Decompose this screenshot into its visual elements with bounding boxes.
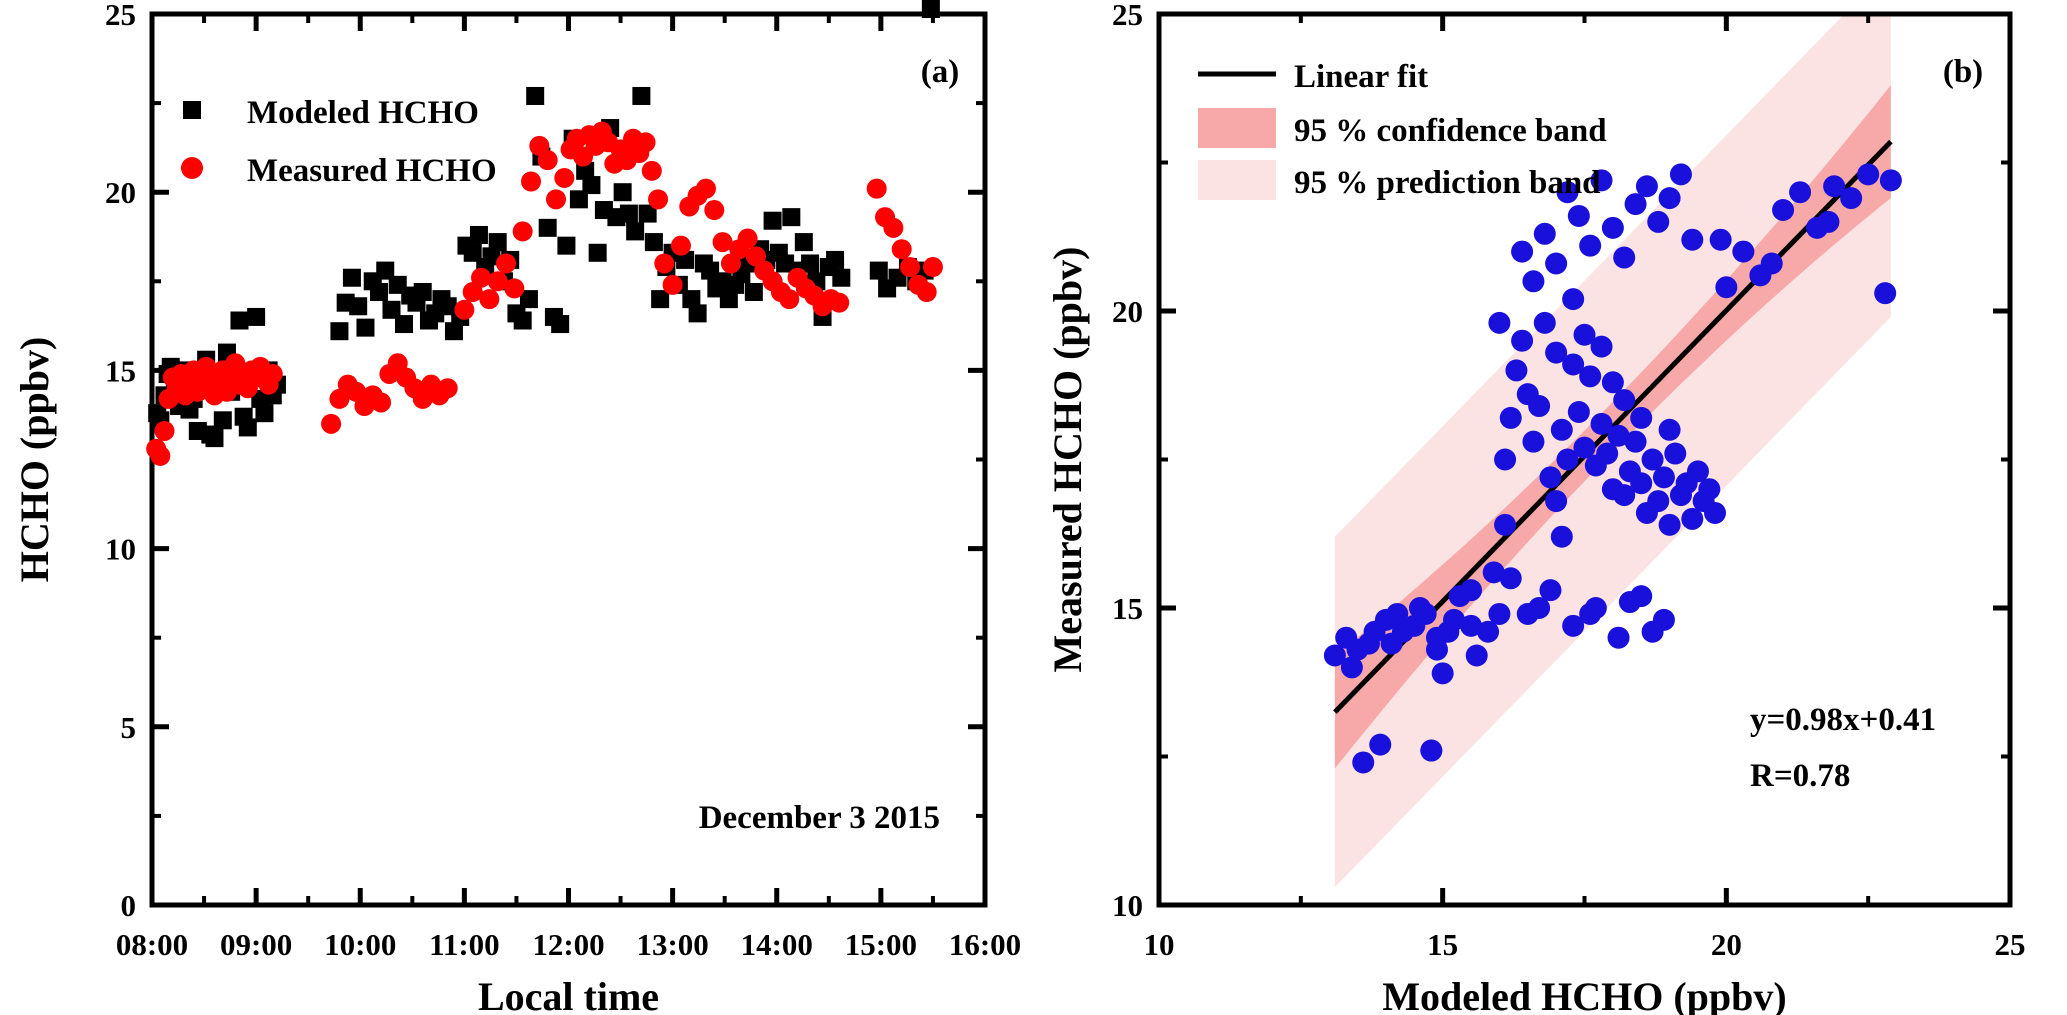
legend-label-measured: Measured HCHO bbox=[247, 153, 497, 189]
data-point-scatter bbox=[1602, 217, 1624, 239]
panel-b-legend: Linear fit95 % confidence band95 % predi… bbox=[1198, 59, 1607, 201]
panel-b-plot-area: 1015202510152025Modeled HCHO (ppbv)Measu… bbox=[1045, 0, 2026, 1015]
data-point-scatter bbox=[1880, 169, 1902, 191]
figure-container: 08:0009:0010:0011:0012:0013:0014:0015:00… bbox=[0, 0, 2067, 1015]
data-point-scatter bbox=[1613, 389, 1635, 411]
data-point-modeled bbox=[330, 322, 348, 340]
x-tick-label: 11:00 bbox=[429, 927, 500, 962]
data-point-scatter bbox=[1579, 365, 1601, 387]
data-point-scatter bbox=[1528, 395, 1550, 417]
data-point-scatter bbox=[1534, 312, 1556, 334]
data-point-scatter bbox=[1522, 431, 1544, 453]
data-point-measured bbox=[438, 378, 458, 398]
data-point-scatter bbox=[1562, 288, 1584, 310]
data-point-measured bbox=[883, 218, 903, 238]
data-point-modeled bbox=[255, 404, 273, 422]
legend-label-confidence-band: 95 % confidence band bbox=[1294, 113, 1607, 149]
data-point-scatter bbox=[1761, 252, 1783, 274]
data-point-scatter bbox=[1488, 312, 1510, 334]
data-point-modeled bbox=[539, 219, 557, 237]
data-point-modeled bbox=[795, 233, 813, 251]
data-point-modeled bbox=[632, 87, 650, 105]
data-point-modeled bbox=[582, 176, 600, 194]
x-axis-title: Local time bbox=[478, 974, 659, 1015]
data-point-scatter bbox=[1732, 241, 1754, 263]
x-tick-label: 09:00 bbox=[220, 927, 292, 962]
data-point-modeled bbox=[343, 269, 361, 287]
data-point-scatter bbox=[1415, 603, 1437, 625]
data-point-modeled bbox=[349, 297, 367, 315]
data-point-measured bbox=[738, 229, 758, 249]
x-tick-label: 14:00 bbox=[741, 927, 813, 962]
y-tick-label: 20 bbox=[105, 175, 136, 210]
data-point-measured bbox=[513, 221, 533, 241]
data-point-measured bbox=[538, 150, 558, 170]
data-point-scatter bbox=[1704, 502, 1726, 524]
data-point-modeled bbox=[870, 262, 888, 280]
data-point-scatter bbox=[1551, 526, 1573, 548]
data-point-scatter bbox=[1772, 199, 1794, 221]
data-point-modeled bbox=[470, 226, 488, 244]
legend-marker-circle-icon bbox=[181, 157, 203, 179]
data-point-scatter bbox=[1426, 639, 1448, 661]
data-point-measured bbox=[704, 200, 724, 220]
data-point-measured bbox=[371, 392, 391, 412]
data-point-modeled bbox=[801, 254, 819, 272]
data-point-modeled bbox=[230, 312, 248, 330]
data-point-scatter bbox=[1591, 336, 1613, 358]
data-point-scatter bbox=[1857, 163, 1879, 185]
data-point-measured bbox=[696, 179, 716, 199]
fit-equation-text: y=0.98x+0.41 bbox=[1750, 702, 1936, 738]
data-point-scatter bbox=[1500, 407, 1522, 429]
data-point-modeled bbox=[689, 304, 707, 322]
y-tick-label: 20 bbox=[1112, 294, 1143, 329]
legend-swatch-prediction-icon bbox=[1198, 160, 1276, 200]
x-tick-label: 08:00 bbox=[116, 927, 188, 962]
data-point-scatter bbox=[1534, 223, 1556, 245]
data-point-scatter bbox=[1715, 276, 1737, 298]
data-point-modeled bbox=[551, 315, 569, 333]
data-point-scatter bbox=[1659, 514, 1681, 536]
data-point-measured bbox=[892, 239, 912, 259]
x-tick-label: 20 bbox=[1711, 927, 1742, 962]
data-point-scatter bbox=[1670, 163, 1692, 185]
data-point-measured bbox=[654, 253, 674, 273]
y-tick-label: 5 bbox=[121, 710, 137, 745]
panel-a-annotation: December 3 2015 bbox=[699, 800, 940, 836]
data-point-scatter bbox=[1817, 211, 1839, 233]
y-tick-label: 25 bbox=[1112, 0, 1143, 32]
x-tick-label: 15 bbox=[1427, 927, 1458, 962]
data-point-scatter bbox=[1642, 621, 1664, 643]
legend-label-modeled: Modeled HCHO bbox=[247, 95, 479, 131]
data-point-measured bbox=[496, 253, 516, 273]
panel-a-timeseries: 08:0009:0010:0011:0012:0013:0014:0015:00… bbox=[0, 0, 1035, 1015]
data-point-scatter bbox=[1568, 205, 1590, 227]
data-point-measured bbox=[642, 161, 662, 181]
data-point-measured bbox=[867, 179, 887, 199]
data-point-scatter bbox=[1653, 466, 1675, 488]
x-axis-title: Modeled HCHO (ppbv) bbox=[1382, 974, 1786, 1015]
y-tick-label: 15 bbox=[105, 353, 136, 388]
data-point-modeled bbox=[526, 87, 544, 105]
y-tick-label: 15 bbox=[1112, 591, 1143, 626]
data-point-measured bbox=[321, 414, 341, 434]
data-point-scatter bbox=[1579, 603, 1601, 625]
data-point-scatter bbox=[1358, 633, 1380, 655]
data-point-scatter bbox=[1630, 407, 1652, 429]
data-point-scatter bbox=[1545, 490, 1567, 512]
data-point-scatter bbox=[1681, 229, 1703, 251]
data-point-modeled bbox=[645, 233, 663, 251]
panel-a-svg: 08:0009:0010:0011:0012:0013:0014:0015:00… bbox=[0, 0, 1035, 1015]
panel-b-label: (b) bbox=[1943, 54, 1983, 90]
data-point-measured bbox=[471, 268, 491, 288]
data-point-modeled bbox=[514, 312, 532, 330]
data-point-modeled bbox=[620, 205, 638, 223]
data-point-scatter bbox=[1619, 591, 1641, 613]
data-point-modeled bbox=[922, 0, 940, 18]
data-point-scatter bbox=[1710, 229, 1732, 251]
data-point-modeled bbox=[826, 251, 844, 269]
legend-swatch-confidence-icon bbox=[1198, 108, 1276, 148]
data-point-scatter bbox=[1545, 252, 1567, 274]
data-point-scatter bbox=[1483, 561, 1505, 583]
data-point-scatter bbox=[1420, 740, 1442, 762]
data-point-scatter bbox=[1539, 466, 1561, 488]
data-point-measured bbox=[554, 168, 574, 188]
y-axis-title: Measured HCHO (ppbv) bbox=[1045, 247, 1090, 673]
data-point-scatter bbox=[1511, 330, 1533, 352]
data-point-modeled bbox=[414, 283, 432, 301]
panel-a-label: (a) bbox=[921, 54, 959, 90]
data-point-measured bbox=[546, 189, 566, 209]
data-point-scatter bbox=[1664, 443, 1686, 465]
data-point-measured bbox=[648, 189, 668, 209]
y-tick-label: 10 bbox=[1112, 888, 1143, 923]
data-point-scatter bbox=[1647, 490, 1669, 512]
data-point-scatter bbox=[1698, 478, 1720, 500]
x-tick-label: 25 bbox=[1995, 927, 2026, 962]
y-axis-title: HCHO (ppbv) bbox=[12, 337, 57, 583]
x-tick-label: 10:00 bbox=[324, 927, 396, 962]
data-point-scatter bbox=[1341, 656, 1363, 678]
panel-a-plot-area: 08:0009:0010:0011:0012:0013:0014:0015:00… bbox=[12, 0, 1021, 1015]
legend-marker-square-icon bbox=[183, 101, 201, 119]
data-point-modeled bbox=[764, 212, 782, 230]
panel-a-legend: Modeled HCHOMeasured HCHO bbox=[181, 95, 497, 189]
x-tick-label: 10 bbox=[1144, 927, 1175, 962]
data-point-measured bbox=[521, 172, 541, 192]
data-point-measured bbox=[263, 364, 283, 384]
data-point-scatter bbox=[1625, 431, 1647, 453]
data-point-scatter bbox=[1551, 419, 1573, 441]
data-point-scatter bbox=[1466, 645, 1488, 667]
data-point-modeled bbox=[782, 208, 800, 226]
data-point-measured bbox=[454, 300, 474, 320]
data-point-scatter bbox=[1432, 662, 1454, 684]
data-point-scatter bbox=[1494, 449, 1516, 471]
data-point-scatter bbox=[1613, 247, 1635, 269]
data-point-modeled bbox=[214, 411, 232, 429]
data-point-modeled bbox=[589, 244, 607, 262]
y-tick-label: 25 bbox=[105, 0, 136, 32]
data-point-scatter bbox=[1488, 603, 1510, 625]
data-point-scatter bbox=[1579, 235, 1601, 257]
legend-label-prediction-band: 95 % prediction band bbox=[1294, 165, 1601, 201]
data-point-scatter bbox=[1647, 211, 1669, 233]
x-tick-label: 15:00 bbox=[845, 927, 917, 962]
data-point-measured bbox=[779, 289, 799, 309]
data-point-modeled bbox=[239, 418, 257, 436]
data-point-scatter bbox=[1352, 751, 1374, 773]
data-point-measured bbox=[917, 282, 937, 302]
data-point-measured bbox=[671, 236, 691, 256]
data-point-scatter bbox=[1511, 241, 1533, 263]
y-tick-label: 10 bbox=[105, 532, 136, 567]
data-point-scatter bbox=[1608, 627, 1630, 649]
data-point-modeled bbox=[745, 283, 763, 301]
data-point-scatter bbox=[1659, 187, 1681, 209]
data-point-scatter bbox=[1568, 401, 1590, 423]
legend-label-linear-fit: Linear fit bbox=[1294, 59, 1428, 95]
data-point-modeled bbox=[626, 222, 644, 240]
data-point-scatter bbox=[1522, 270, 1544, 292]
data-point-measured bbox=[829, 293, 849, 313]
data-point-measured bbox=[900, 257, 920, 277]
data-point-modeled bbox=[205, 429, 223, 447]
y-tick-label: 0 bbox=[121, 888, 137, 923]
data-point-scatter bbox=[1630, 472, 1652, 494]
data-point-modeled bbox=[557, 237, 575, 255]
data-point-modeled bbox=[370, 283, 388, 301]
data-point-modeled bbox=[832, 269, 850, 287]
data-point-scatter bbox=[1494, 514, 1516, 536]
data-point-scatter bbox=[1789, 181, 1811, 203]
data-point-measured bbox=[504, 278, 524, 298]
data-point-measured bbox=[663, 275, 683, 295]
data-point-modeled bbox=[247, 308, 265, 326]
data-point-measured bbox=[479, 289, 499, 309]
x-tick-label: 12:00 bbox=[532, 927, 604, 962]
data-point-modeled bbox=[356, 319, 374, 337]
data-point-modeled bbox=[395, 315, 413, 333]
data-point-scatter bbox=[1840, 187, 1862, 209]
x-tick-label: 13:00 bbox=[636, 927, 708, 962]
data-point-scatter bbox=[1369, 734, 1391, 756]
data-point-measured bbox=[150, 446, 170, 466]
data-point-measured bbox=[154, 421, 174, 441]
data-point-scatter bbox=[1874, 282, 1896, 304]
data-point-scatter bbox=[1460, 579, 1482, 601]
data-point-modeled bbox=[614, 183, 632, 201]
data-point-scatter bbox=[1528, 597, 1550, 619]
panel-b-scatter: 1015202510152025Modeled HCHO (ppbv)Measu… bbox=[1035, 0, 2067, 1015]
data-point-modeled bbox=[489, 233, 507, 251]
data-point-scatter bbox=[1659, 419, 1681, 441]
data-point-modeled bbox=[651, 290, 669, 308]
data-point-measured bbox=[923, 257, 943, 277]
fit-correlation-text: R=0.78 bbox=[1750, 758, 1850, 794]
x-tick-label: 16:00 bbox=[949, 927, 1021, 962]
data-point-measured bbox=[636, 132, 656, 152]
data-point-scatter bbox=[1636, 175, 1658, 197]
panel-b-svg: 1015202510152025Modeled HCHO (ppbv)Measu… bbox=[1035, 0, 2067, 1015]
data-point-scatter bbox=[1505, 359, 1527, 381]
